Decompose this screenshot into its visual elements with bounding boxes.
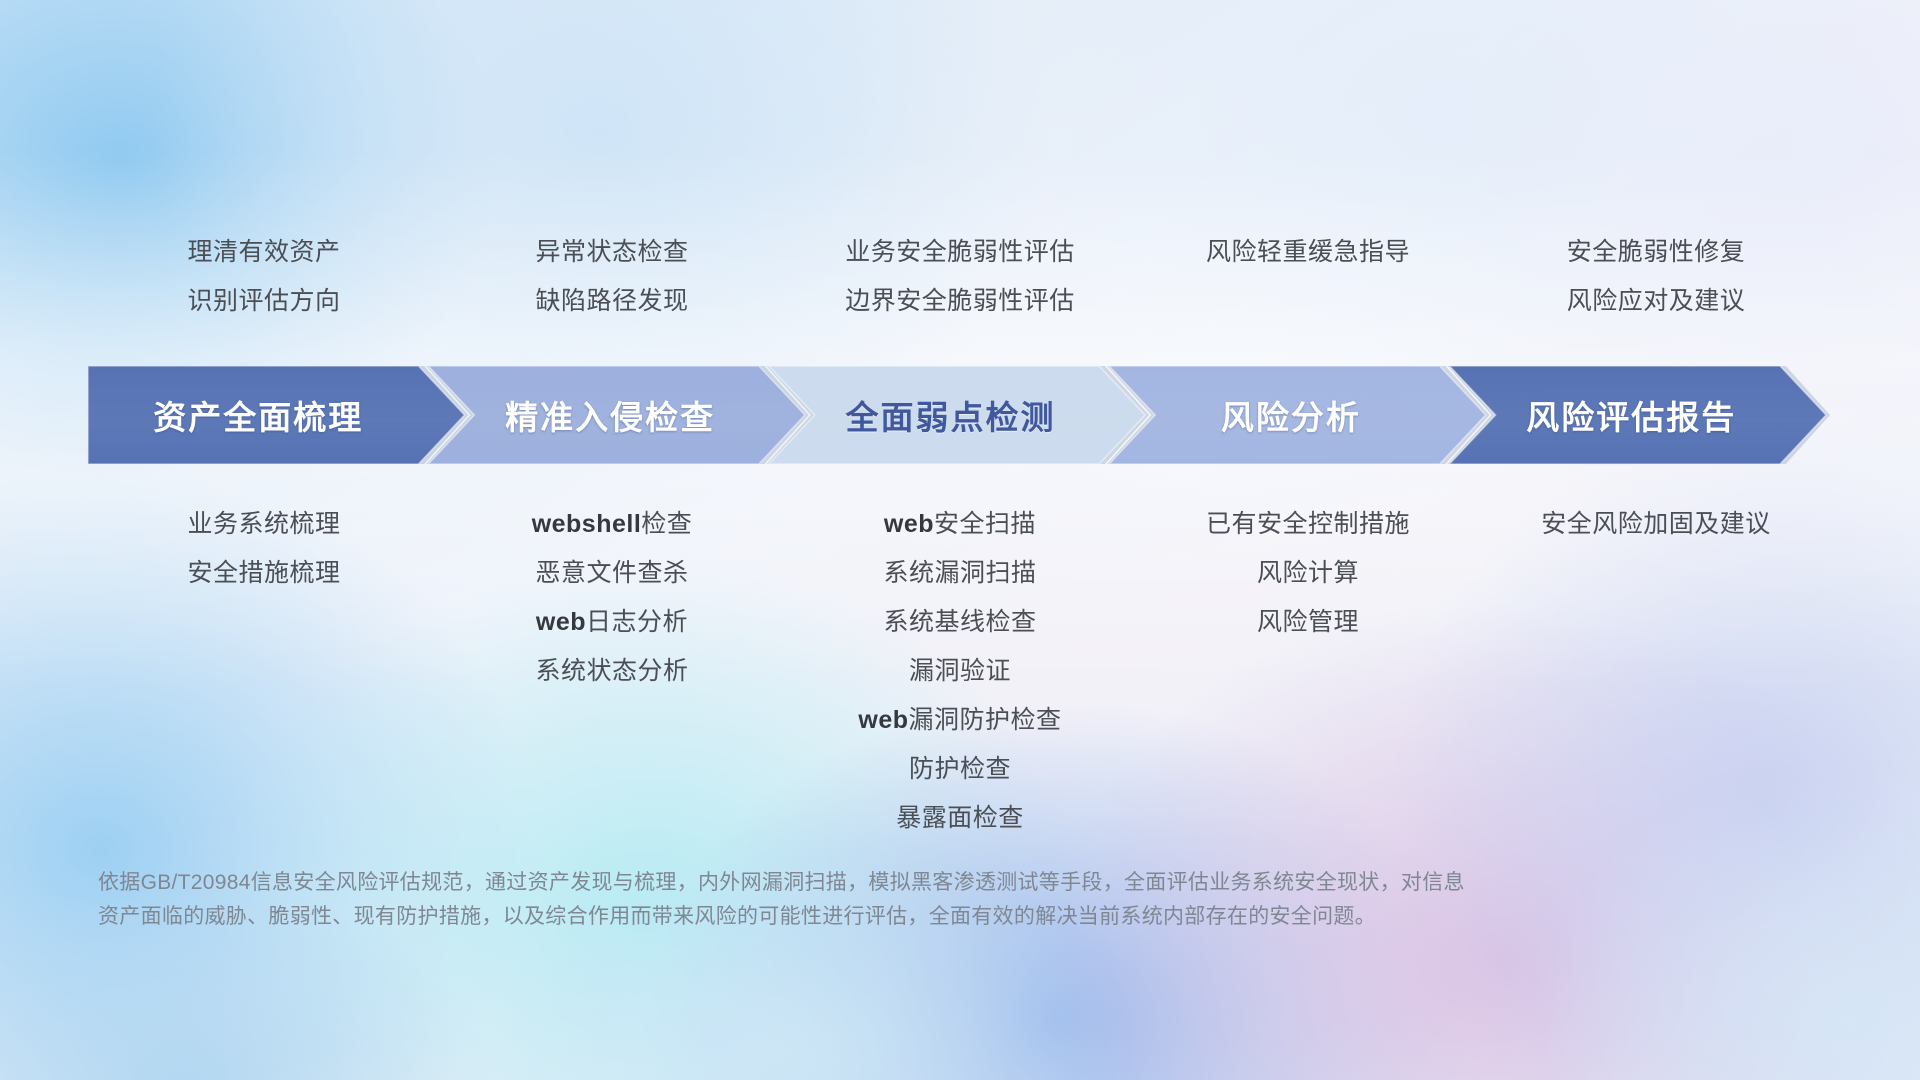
note-item-keyword: web <box>884 510 934 538</box>
chevron-shapes <box>88 366 1836 464</box>
stage-notes-above-risk-report: 安全脆弱性修复风险应对及建议 <box>1482 228 1830 338</box>
stage-notes-above-row: 理清有效资产识别评估方向异常状态检查缺陷路径发现业务安全脆弱性评估边界安全脆弱性… <box>90 228 1830 338</box>
note-item: 风险管理 <box>1257 598 1359 647</box>
stage-notes-below-row: 业务系统梳理安全措施梳理webshell检查恶意文件查杀web日志分析系统状态分… <box>90 500 1830 843</box>
note-item: 风险计算 <box>1257 549 1359 598</box>
process-chevron-band: 资产全面梳理精准入侵检查全面弱点检测风险分析风险评估报告 <box>88 366 1836 464</box>
chevron-intrusion-check[interactable] <box>428 366 804 464</box>
note-item: 业务安全脆弱性评估 <box>845 228 1075 277</box>
note-item: 安全脆弱性修复 <box>1567 228 1746 277</box>
note-item: webshell检查 <box>532 500 693 549</box>
note-item-text: 安全扫描 <box>934 510 1036 538</box>
note-item: 安全风险加固及建议 <box>1541 500 1771 549</box>
footer-line-2: 资产面临的威胁、脆弱性、现有防护措施，以及综合作用而带来风险的可能性进行评估，全… <box>98 900 1658 934</box>
note-item: 漏洞验证 <box>909 647 1011 696</box>
note-item-text: 漏洞防护检查 <box>909 706 1062 734</box>
note-item: 恶意文件查杀 <box>535 549 688 598</box>
stage-notes-above-weakness-detection: 业务安全脆弱性评估边界安全脆弱性评估 <box>786 228 1134 338</box>
note-item: 已有安全控制措施 <box>1206 500 1410 549</box>
stage-notes-above-asset-inventory: 理清有效资产识别评估方向 <box>90 228 438 338</box>
chevron-risk-report[interactable] <box>1450 366 1826 464</box>
note-item: 系统基线检查 <box>883 598 1036 647</box>
note-item: web安全扫描 <box>884 500 1036 549</box>
chevron-weakness-detection[interactable] <box>769 366 1145 464</box>
note-item: 系统状态分析 <box>535 647 688 696</box>
note-item-keyword: web <box>858 706 908 734</box>
stage-notes-above-intrusion-check: 异常状态检查缺陷路径发现 <box>438 228 786 338</box>
stage-notes-below-risk-report: 安全风险加固及建议 <box>1482 500 1830 549</box>
chevron-risk-analysis[interactable] <box>1109 366 1485 464</box>
note-item: 边界安全脆弱性评估 <box>845 277 1075 326</box>
chevron-asset-inventory[interactable] <box>88 366 464 464</box>
stage-notes-below-weakness-detection: web安全扫描系统漏洞扫描系统基线检查漏洞验证web漏洞防护检查防护检查暴露面检… <box>786 500 1134 843</box>
footer-description: 依据GB/T20984信息安全风险评估规范，通过资产发现与梳理，内外网漏洞扫描，… <box>98 866 1658 934</box>
note-item: 暴露面检查 <box>896 794 1024 843</box>
note-item-text: 日志分析 <box>586 608 688 636</box>
stage-notes-below-intrusion-check: webshell检查恶意文件查杀web日志分析系统状态分析 <box>438 500 786 696</box>
stage-notes-below-asset-inventory: 业务系统梳理安全措施梳理 <box>90 500 438 598</box>
note-item: 安全措施梳理 <box>187 549 340 598</box>
note-item: 识别评估方向 <box>187 277 340 326</box>
note-item: 防护检查 <box>909 745 1011 794</box>
note-item: 缺陷路径发现 <box>535 277 688 326</box>
note-item-keyword: webshell <box>532 510 642 538</box>
note-item: 风险轻重缓急指导 <box>1206 228 1410 277</box>
note-item-keyword: web <box>536 608 586 636</box>
note-item: 风险应对及建议 <box>1567 277 1746 326</box>
stage-notes-below-risk-analysis: 已有安全控制措施风险计算风险管理 <box>1134 500 1482 647</box>
note-item: web日志分析 <box>536 598 688 647</box>
note-item: 异常状态检查 <box>535 228 688 277</box>
note-item: 系统漏洞扫描 <box>883 549 1036 598</box>
note-item: web漏洞防护检查 <box>858 696 1061 745</box>
note-item: 理清有效资产 <box>187 228 340 277</box>
stage-notes-above-risk-analysis: 风险轻重缓急指导 <box>1134 228 1482 338</box>
diagram-content: 理清有效资产识别评估方向异常状态检查缺陷路径发现业务安全脆弱性评估边界安全脆弱性… <box>0 0 1920 1080</box>
footer-line-1: 依据GB/T20984信息安全风险评估规范，通过资产发现与梳理，内外网漏洞扫描，… <box>98 866 1658 900</box>
note-item: 业务系统梳理 <box>187 500 340 549</box>
note-item-text: 检查 <box>641 510 692 538</box>
